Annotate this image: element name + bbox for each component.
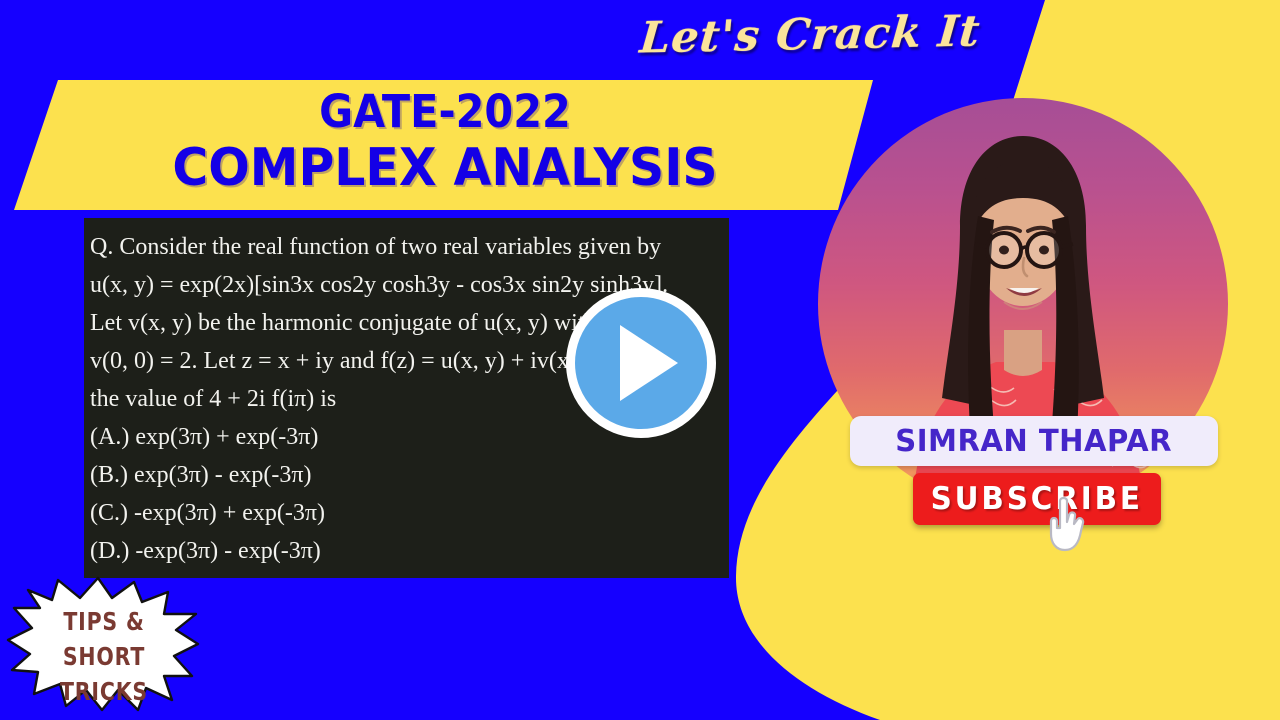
video-thumbnail: Let's Crack It GATE-2022 COMPLEX ANALYSI… xyxy=(0,0,1280,720)
question-line: Q. Consider the real function of two rea… xyxy=(90,228,726,266)
tips-line-2: SHORT TRICKS xyxy=(24,639,185,709)
exam-title: GATE-2022 xyxy=(36,86,855,138)
subscribe-label: SUBSCRIBE xyxy=(931,481,1143,517)
play-icon xyxy=(620,325,678,401)
hand-cursor-icon xyxy=(1046,495,1088,553)
subscribe-button[interactable]: SUBSCRIBE xyxy=(913,473,1161,525)
option-c: (C.) -exp(3π) + exp(-3π) xyxy=(90,494,726,532)
presenter-name-badge: SIMRAN THAPAR xyxy=(850,416,1218,466)
tips-burst: TIPS & SHORT TRICKS xyxy=(6,574,202,714)
play-button[interactable] xyxy=(566,288,716,438)
subject-title: COMPLEX ANALYSIS xyxy=(27,138,864,198)
tips-burst-text: TIPS & SHORT TRICKS xyxy=(6,604,202,709)
channel-tagline: Let's Crack It xyxy=(627,2,993,72)
option-d: (D.) -exp(3π) - exp(-3π) xyxy=(90,532,726,570)
title-banner-inner: GATE-2022 COMPLEX ANALYSIS xyxy=(0,80,890,210)
presenter-name-label: SIMRAN THAPAR xyxy=(896,424,1173,459)
tips-line-1: TIPS & xyxy=(24,604,185,639)
title-banner: GATE-2022 COMPLEX ANALYSIS xyxy=(0,80,890,210)
option-b: (B.) exp(3π) - exp(-3π) xyxy=(90,456,726,494)
